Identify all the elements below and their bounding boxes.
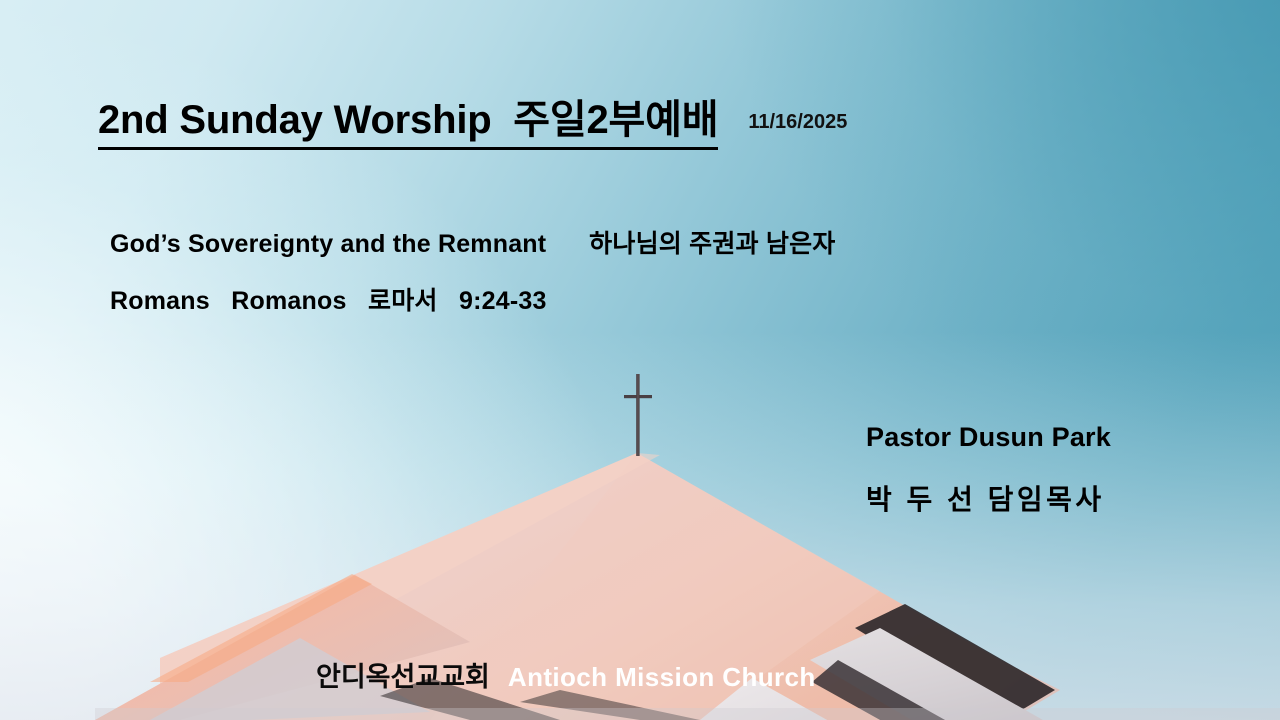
pastor-name-english: Pastor Dusun Park (866, 422, 1111, 453)
scripture-reference: Romans Romanos 로마서 9:24-33 (110, 281, 547, 317)
sermon-title: God’s Sovereignty and the Remnant 하나님의 주… (110, 224, 835, 260)
service-date: 11/16/2025 (748, 111, 847, 134)
church-name-english: Antioch Mission Church (508, 662, 816, 693)
page-title: 2nd Sunday Worship 주일2부예배 (98, 100, 718, 150)
cross-icon (620, 374, 660, 458)
worship-slide: 2nd Sunday Worship 주일2부예배 11/16/2025 God… (0, 0, 1280, 720)
bottom-gray-band (95, 708, 1280, 720)
pastor-name-korean: 박 두 선 담임목사 (866, 478, 1105, 518)
slide-title-row: 2nd Sunday Worship 주일2부예배 11/16/2025 (98, 100, 847, 150)
church-name-row: 안디옥선교교회 Antioch Mission Church (316, 655, 816, 694)
church-name-korean: 안디옥선교교회 (316, 655, 490, 694)
